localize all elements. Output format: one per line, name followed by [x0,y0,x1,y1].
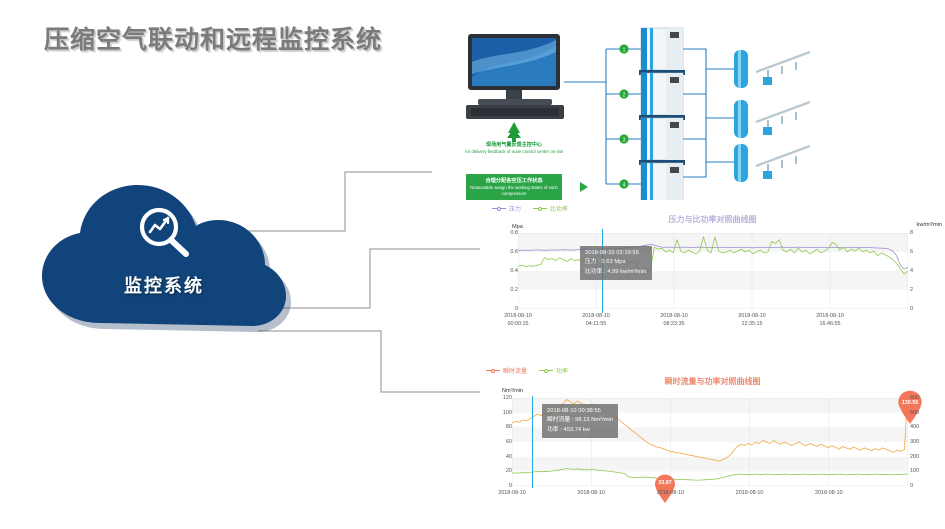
axis-tick: 500 [910,410,919,416]
compressor-icon-2 [639,73,685,120]
legend-label: 瞬时流量 [503,366,527,375]
axis-tick: 0 [486,483,512,489]
chart2-marker-low[interactable] [654,474,676,504]
legend-swatch-icon [533,205,547,212]
green-callout-en: Reasonable assign the working states of … [468,185,560,196]
legend-swatch-icon [492,205,506,212]
tree-arrow-icon [507,122,521,142]
chart1-plot-area[interactable] [518,233,908,309]
axis-tick: 2018-08-10 [736,490,764,498]
tooltip-flow: 瞬时流量 : 98.13 Nm³/min [547,416,613,425]
tank-group-2 [734,100,810,138]
axis-tick: 0 [910,306,913,312]
legend-label: 功率 [556,366,568,375]
axis-tick: 120 [486,395,512,401]
axis-tick: 6 [910,249,913,255]
axis-tick: 0 [492,306,518,312]
axis-tick: 300 [910,439,919,445]
magnifier-chart-icon [134,203,196,263]
svg-text:3: 3 [623,137,626,143]
diagram-caption-cn: 现场用气量反馈主控中心 [460,142,568,148]
chart1-title: 压力与比功率对照曲线图 [480,214,945,225]
legend-item-specific-power[interactable]: 比功率 [533,204,568,213]
axis-tick: 2018-08-10 [498,490,526,498]
axis-tick: 0.8 [492,230,518,236]
cloud-label: 监控系统 [38,272,290,298]
monitor-icon [466,34,564,119]
axis-tick: 0.4 [492,268,518,274]
system-diagram: 1 2 3 4 [438,22,938,202]
chart1-series-svg [518,233,908,309]
axis-tick: 20 [486,468,512,474]
chart2-cursor [532,396,533,488]
tank-group-1 [734,50,810,88]
axis-tick: 0.2 [492,287,518,293]
axis-tick: 100 [910,468,919,474]
axis-tick: 2 [910,287,913,293]
axis-tick: 600 [910,395,919,401]
chart2-y-unit: Nm³/min [502,388,523,394]
axis-tick: 60 [486,439,512,445]
axis-tick: 2018-08-10 [577,490,605,498]
axis-tick: 2018-08-10 [657,490,685,498]
svg-text:4: 4 [623,182,626,188]
chart2-tooltip: 2018-08-10 00:38:55 瞬时流量 : 98.13 Nm³/min… [542,404,618,438]
chart1-legend: 压力 比功率 [492,204,568,213]
diagram-caption-en: Air delivery feedback of main control ce… [460,149,568,155]
axis-tick: 2018-08-1016:46:55 [816,313,844,328]
compressor-icon-1 [639,28,685,75]
legend-item-power[interactable]: 功率 [539,366,568,375]
legend-label: 压力 [509,204,521,213]
diagram-caption: 现场用气量反馈主控中心 Air delivery feedback of mai… [460,142,568,155]
green-callout-box: 合理分配各空压工作状态 Reasonable assign the workin… [466,174,562,200]
axis-tick: 100 [486,410,512,416]
svg-text:2: 2 [623,92,626,98]
chart1-y2-unit: kw/m³/min [917,222,942,228]
tank-group-3 [734,144,810,182]
axis-tick: 40 [486,454,512,460]
green-arrow-icon [578,180,592,194]
chart2-legend: 瞬时流量 功率 [486,366,568,375]
legend-item-flow[interactable]: 瞬时流量 [486,366,527,375]
axis-tick: 8 [910,230,913,236]
monitoring-cloud[interactable]: 监控系统 [38,183,290,328]
chart2-title: 瞬时流量与功率对照曲线图 [480,376,945,387]
axis-tick: 400 [910,424,919,430]
axis-tick: 200 [910,454,919,460]
axis-tick: 4 [910,268,913,274]
tooltip-time: 2018-08-10 00:38:55 [547,407,613,416]
flow-power-chart[interactable]: 瞬时流量 功率 瞬时流量与功率对照曲线图 Nm³/min 33.87 130.5… [480,362,945,529]
compressor-icon-3 [639,118,685,165]
axis-tick: 2018-08-1000:00:15 [504,313,532,328]
legend-swatch-icon [486,367,500,374]
legend-label: 比功率 [550,204,568,213]
pressure-power-chart[interactable]: 压力 比功率 压力与比功率对照曲线图 Mpa kw/m³/min 00.20.4… [480,200,945,340]
tooltip-specific-power: 比功率 : 4.99 kw/m³/min [585,268,647,277]
legend-item-pressure[interactable]: 压力 [492,204,521,213]
legend-swatch-icon [539,367,553,374]
chart2-marker-low-label: 33.87 [654,480,676,486]
axis-tick: 2018-08-10 [815,490,843,498]
axis-tick: 2018-08-1008:23:35 [660,313,688,328]
tooltip-pressure: 压力 : 0.63 Mpa [585,258,647,267]
slide-canvas: 压缩空气联动和远程监控系统 监控系统 [0,0,945,529]
compressor-icon-4 [641,163,683,202]
green-callout-cn: 合理分配各空压工作状态 [468,178,560,185]
tooltip-power: 功率 : 493.74 kw [547,426,613,435]
tooltip-time: 2018-08-10 02:19:55 [585,249,647,258]
svg-text:1: 1 [623,47,626,53]
axis-tick: 2018-08-1012:35:15 [738,313,766,328]
axis-tick: 0 [910,483,913,489]
axis-tick: 80 [486,424,512,430]
chart1-tooltip: 2018-08-10 02:19:55 压力 : 0.63 Mpa 比功率 : … [580,246,652,280]
axis-tick: 2018-08-1004:11:55 [582,313,610,328]
axis-tick: 0.6 [492,249,518,255]
